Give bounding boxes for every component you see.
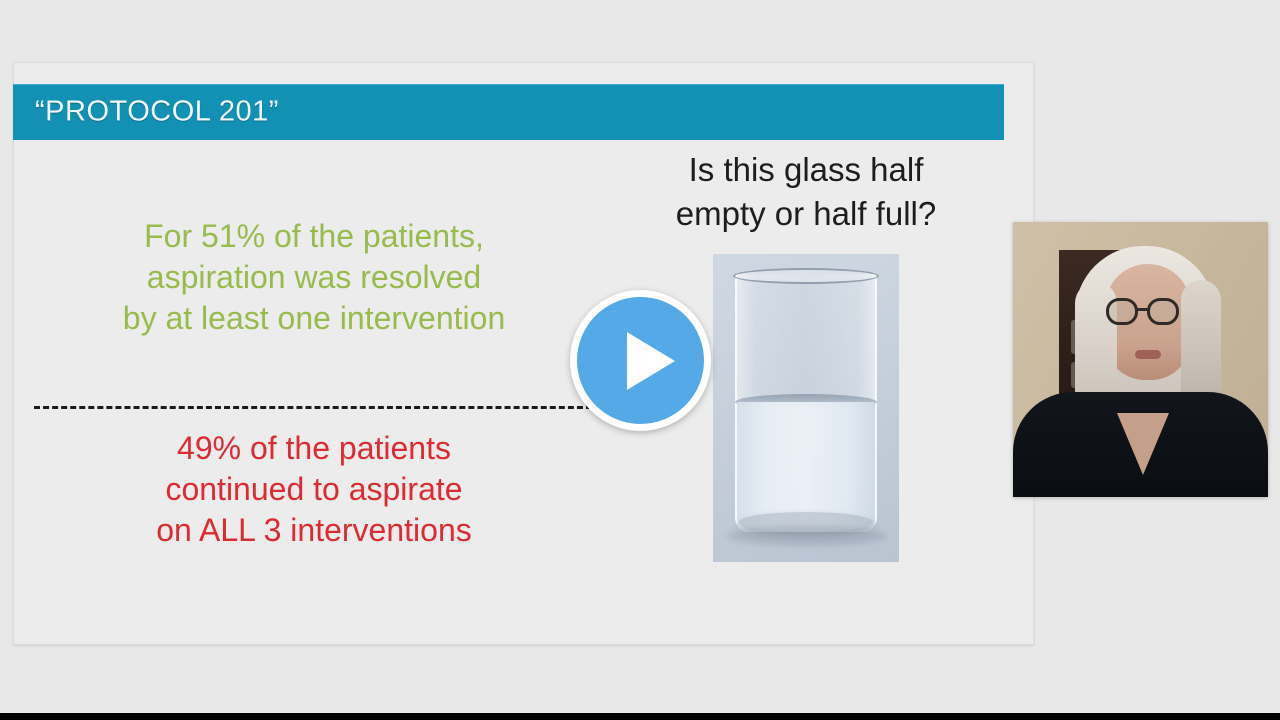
presenter-mouth [1135,350,1161,359]
presenter-eyeglass-left [1106,298,1138,325]
play-button[interactable] [570,290,711,431]
presenter-webcam-thumbnail[interactable] [1013,222,1268,497]
red-statistic-line-1: 49% of the patients [34,428,594,469]
glass-shadow [727,526,887,546]
red-statistic-line-3: on ALL 3 interventions [34,510,594,551]
page-title: “PROTOCOL 201” [35,96,279,129]
half-full-glass-photo [713,254,899,562]
slide-title-banner: “PROTOCOL 201” [13,84,1004,140]
green-statistic-line-2: aspiration was resolved [34,257,594,298]
green-statistic-line-1: For 51% of the patients, [34,216,594,257]
green-statistic-text: For 51% of the patients, aspiration was … [34,216,594,339]
video-player-stage[interactable]: “PROTOCOL 201” For 51% of the patients, … [0,0,1280,720]
question-line-1: Is this glass half [636,148,976,192]
letterbox-bar-bottom [0,713,1280,720]
presenter-eyeglass-bridge [1137,308,1149,311]
glass-rim [733,268,879,284]
green-statistic-line-3: by at least one intervention [34,298,594,339]
question-text: Is this glass half empty or half full? [636,148,976,235]
play-triangle-icon [627,332,675,390]
presenter-eyeglass-right [1147,298,1179,325]
red-statistic-text: 49% of the patients continued to aspirat… [34,428,594,551]
red-statistic-line-2: continued to aspirate [34,469,594,510]
dashed-divider [34,406,592,409]
question-line-2: empty or half full? [636,192,976,236]
presenter-vneck [1117,413,1169,475]
